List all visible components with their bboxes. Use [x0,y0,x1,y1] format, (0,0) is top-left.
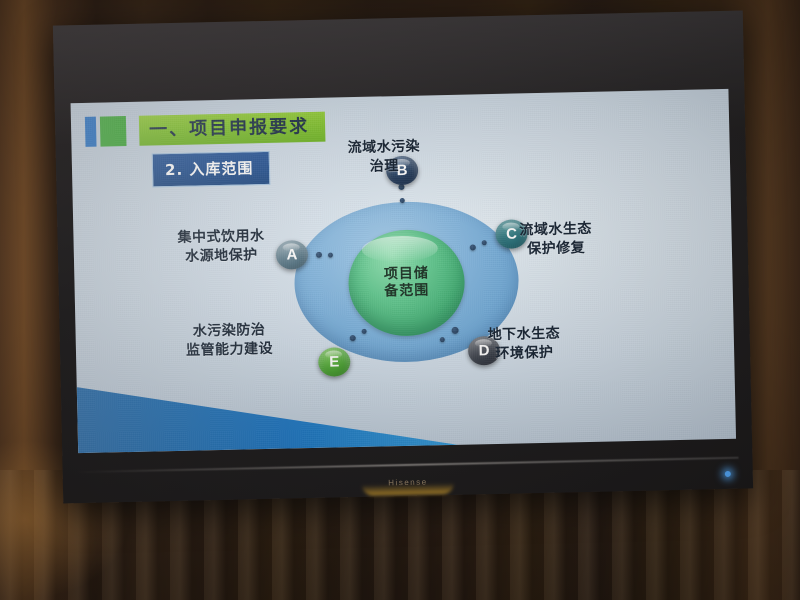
connector-dot [440,337,445,342]
connector-dot [400,198,405,203]
label-a-line2: 水源地保护 [178,246,265,267]
label-node-c: 流域水生态 保护修复 [519,220,592,259]
label-e-line2: 监管能力建设 [186,340,273,361]
tv-brand-logo: Hisense [388,478,428,488]
slide-subtitle: 2. 入库范围 [152,151,271,188]
connector-dot [350,335,356,341]
connector-dot [328,253,333,258]
label-d-line1: 地下水生态 [488,325,561,345]
label-e-line1: 水污染防治 [185,321,272,342]
node-c-letter: C [506,226,517,243]
television: 一、项目申报要求 2. 入库范围 项目储 备范围 [53,11,753,504]
node-e-letter: E [329,353,339,370]
label-b-line1: 流域水污染 [347,138,420,158]
label-c-line2: 保护修复 [520,239,593,259]
center-text-line1: 项目储 [384,265,429,283]
label-node-d: 地下水生态 环境保护 [488,325,561,364]
label-c-line1: 流域水生态 [519,220,592,240]
label-node-b: 流域水污染 治理 [347,138,420,177]
accent-bar-blue [85,117,97,147]
node-a-letter: A [286,246,297,263]
label-a-line1: 集中式饮用水 [177,227,264,248]
label-d-line2: 环境保护 [488,343,561,363]
circular-diagram: 项目储 备范围 A B [268,147,545,403]
photo-scene: 一、项目申报要求 2. 入库范围 项目储 备范围 [0,0,800,600]
label-b-line2: 治理 [348,156,421,176]
label-node-a: 集中式饮用水 水源地保护 [177,227,265,267]
connector-dot [316,252,322,258]
bezel-bottom-edge [76,457,738,473]
slide-title: 一、项目申报要求 [139,112,326,146]
label-node-e: 水污染防治 监管能力建设 [185,321,273,361]
power-led-indicator [725,471,731,477]
connector-dot [482,240,487,245]
accent-bar-green [100,116,127,147]
connector-dot [362,329,367,334]
connector-dot [470,244,476,250]
diagram-node-e[interactable]: E [318,347,351,377]
slide-header: 一、项目申报要求 [85,112,326,147]
center-text-line2: 备范围 [384,282,429,300]
presentation-slide: 一、项目申报要求 2. 入库范围 项目储 备范围 [71,89,736,453]
